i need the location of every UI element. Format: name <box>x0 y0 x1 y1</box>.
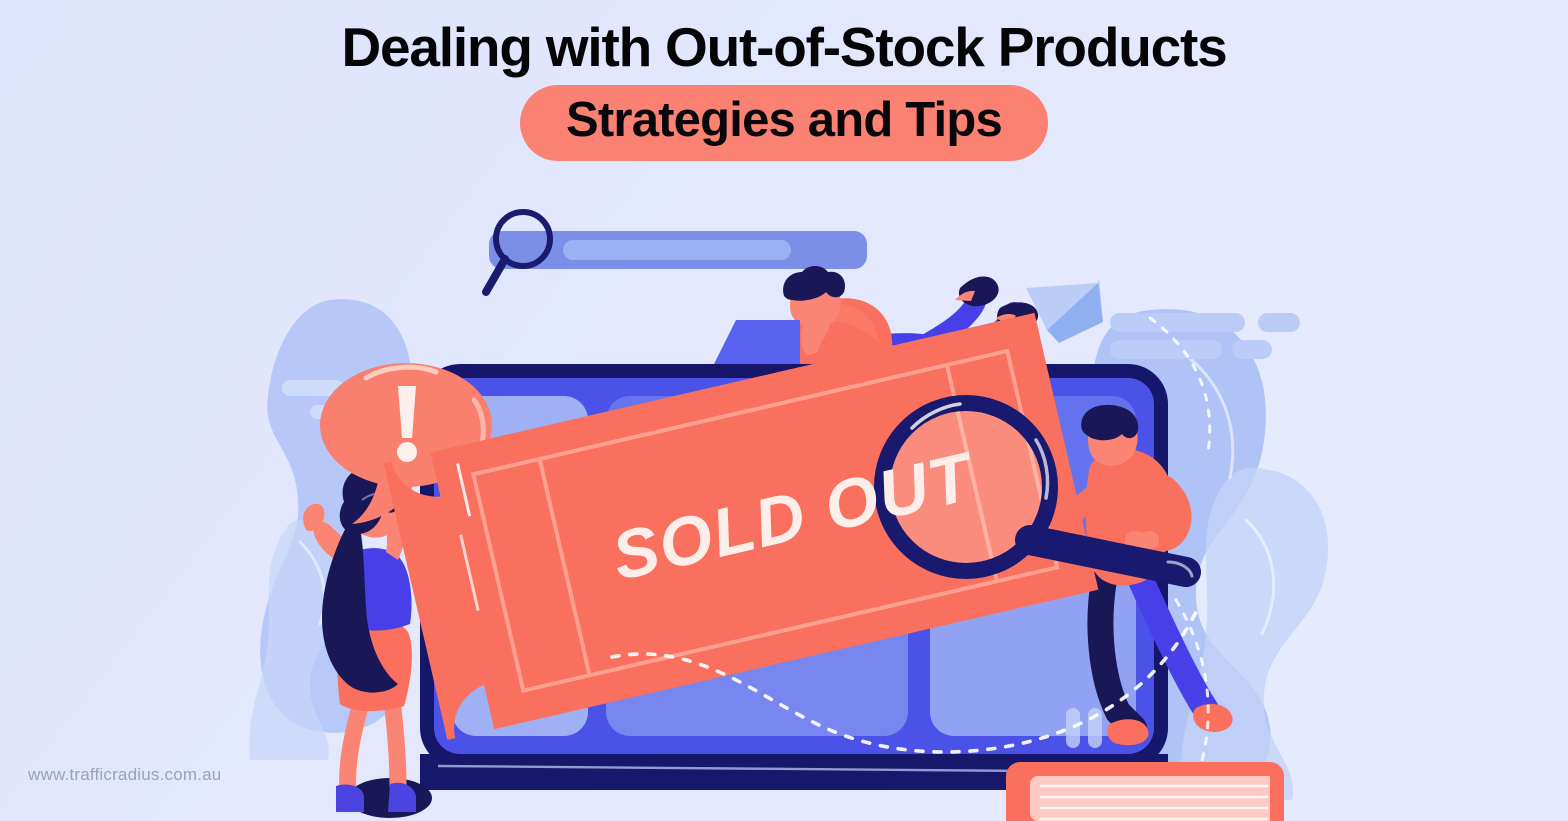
page-title: Dealing with Out-of-Stock Products <box>0 18 1568 76</box>
watermark-url: www.trafficradius.com.au <box>28 765 221 785</box>
book <box>1006 762 1284 821</box>
heading-block: Dealing with Out-of-Stock Products Strat… <box>0 18 1568 161</box>
page-subtitle-pill: Strategies and Tips <box>520 85 1048 161</box>
poster-canvas: SOLD OUT Dealing with Out-of-Stock Produ… <box>0 0 1568 821</box>
